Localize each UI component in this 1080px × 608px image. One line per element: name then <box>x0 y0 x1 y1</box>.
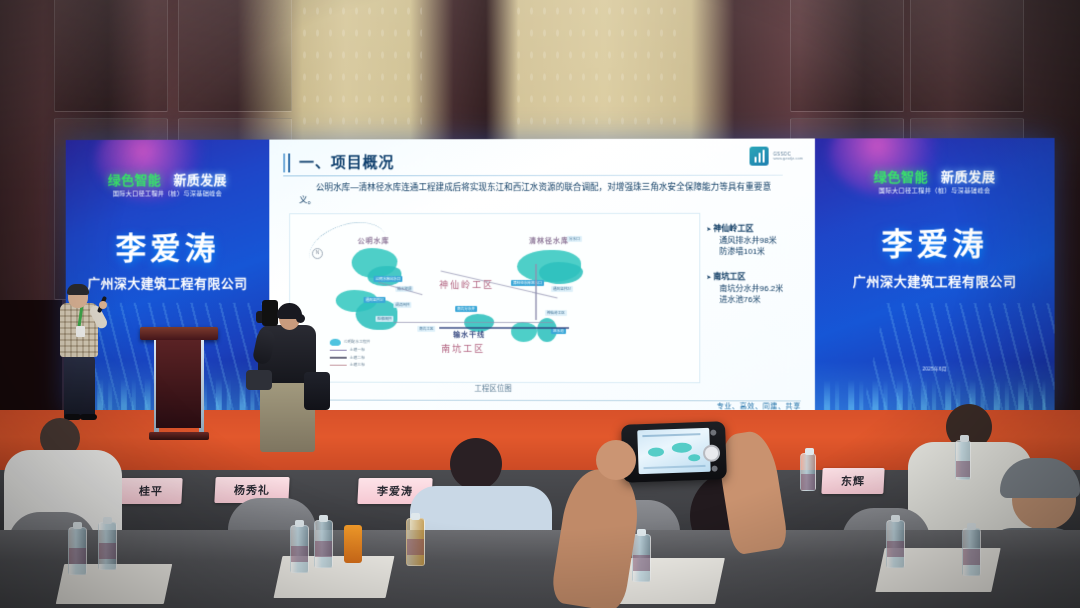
camera-mode-dot[interactable] <box>712 465 718 471</box>
thumb <box>596 440 636 480</box>
company-logo: GSSDC www.gzsdjz.com <box>750 147 803 166</box>
banner-organization: 广州深大建筑工程有限公司 <box>815 271 1055 290</box>
legend-item-label: 土建二标 <box>350 355 365 360</box>
cameraman-hair-bun <box>296 314 305 323</box>
map-label-channel: 输水干线 <box>453 330 485 340</box>
water-bottle <box>98 522 117 570</box>
annotation-group: 南坑工区 南坑分水井96.2米 进水池76米 <box>706 271 807 306</box>
map-site-tag: 通风竖井2# <box>551 286 573 292</box>
legend-item: 土建一标 <box>330 348 370 353</box>
banner-organization: 广州深大建筑工程有限公司 <box>66 273 270 292</box>
title-divider <box>283 175 783 177</box>
banner-right: 绿色智能 新质发展 国际大口径工程井（桩）与深基础峰会 李爱涛 广州深大建筑工程… <box>815 138 1055 414</box>
map-site-tag: 南坑分水井 <box>455 306 477 312</box>
camera-bag <box>304 372 330 410</box>
water-bottle <box>314 520 333 568</box>
shutter-button[interactable] <box>703 444 721 462</box>
map-water-body <box>356 300 398 330</box>
map-label-reservoir-west: 公明水库 <box>358 236 390 246</box>
annotation-line: 进水池76米 <box>706 294 807 306</box>
banner-slogan: 绿色智能 新质发展 <box>815 166 1055 185</box>
project-location-map: N 公明水库 公明水库出水口 通风竖井1# 检修闸井 输水隧洞 调流阀井 清林径… <box>289 213 700 383</box>
nameplate: 东辉 <box>821 468 884 494</box>
map-site-tag: 南坑工区 <box>417 326 435 332</box>
water-bottle <box>632 534 651 582</box>
speaker-shoe <box>80 414 97 420</box>
belt-pouch <box>246 370 272 390</box>
legend-title-row: 公明配水工程井 <box>330 338 370 345</box>
podium-base <box>149 432 209 440</box>
smartphone[interactable] <box>621 421 727 483</box>
map-legend: 公明配水工程井 土建一标 土建二标 土建三标 <box>330 336 370 368</box>
legend-item-label: 土建一标 <box>350 348 365 353</box>
map-site-tag: 清林径水库进水口 <box>511 280 544 286</box>
banner-slogan-green: 绿色智能 <box>874 169 929 184</box>
banner-slogan-white: 新质发展 <box>941 169 996 184</box>
banner-slogan-white: 新质发展 <box>173 173 226 188</box>
speaker-hand <box>99 301 107 309</box>
map-site-tag: 调流阀井 <box>393 302 411 308</box>
podium-panel <box>156 340 201 428</box>
banner-slogan-green: 绿色智能 <box>108 173 161 188</box>
map-site-tag: 通风竖井1# <box>364 297 386 303</box>
banner-speaker-name: 李爱涛 <box>815 219 1055 264</box>
annotation-line: 通风排水井98米 <box>706 235 807 247</box>
annotation-group: 神仙岭工区 通风排水井98米 防渗墙101米 <box>706 223 807 258</box>
map-water-body <box>511 322 537 342</box>
water-bottle <box>886 520 905 568</box>
legend-item: 土建二标 <box>330 355 370 360</box>
podium-top <box>140 327 218 340</box>
logo-url: www.gzsdjz.com <box>773 156 803 161</box>
legend-item: 土建三标 <box>330 363 370 368</box>
slide-annotations: 神仙岭工区 通风排水井98米 防渗墙101米 南坑工区 南坑分水井96.2米 进… <box>706 223 807 319</box>
slide-title: 一、项目概况 <box>299 151 394 172</box>
legend-title: 公明配水工程井 <box>344 339 370 344</box>
map-zone-label-shenxianling: 神仙岭工区 <box>439 278 494 291</box>
camera-mode-dot[interactable] <box>710 430 716 436</box>
annotation-line: 南坑分水井96.2米 <box>706 283 807 295</box>
water-bottle <box>800 453 816 491</box>
phone-screen[interactable] <box>637 428 710 474</box>
beverage-can <box>344 525 362 563</box>
banner-slogan: 绿色智能 新质发展 <box>66 169 270 188</box>
nameplate: 桂平 <box>119 478 182 504</box>
water-icon <box>330 338 341 345</box>
bar-chart-icon <box>750 147 769 166</box>
banner-date: 2025年6月 <box>815 365 1055 372</box>
speaker-legs <box>64 355 95 417</box>
map-water-body <box>539 262 583 284</box>
tea-bottle <box>406 518 425 566</box>
banner-subtitle: 国际大口径工程井（桩）与深基础峰会 <box>815 185 1055 194</box>
audience-head <box>450 438 502 490</box>
map-site-tag: 神仙岭工区 <box>545 310 567 316</box>
title-accent-bars <box>283 153 292 172</box>
water-bottle <box>290 525 309 573</box>
water-bottle <box>955 440 971 480</box>
podium <box>140 327 218 444</box>
video-camera-icon <box>262 300 278 326</box>
slide-body-text: 公明水库—清林径水库连通工程建成后将实现东江和西江水资源的联合调配，对增强珠三角… <box>299 181 785 208</box>
water-bottle <box>962 528 981 576</box>
map-site-tag: 分水口 <box>567 236 582 242</box>
annotation-line: 防渗墙101米 <box>706 246 807 258</box>
conference-photo: 绿色智能 新质发展 国际大口径工程井（桩）与深基础峰会 李爱涛 广州深大建筑工程… <box>0 0 1080 608</box>
annotation-heading: 神仙岭工区 <box>706 223 807 235</box>
banner-speaker-name: 李爱涛 <box>66 223 270 268</box>
map-caption: 工程区位图 <box>289 383 698 395</box>
annotation-heading: 南坑工区 <box>706 271 807 283</box>
map-site-tag: 进水池 <box>551 328 566 334</box>
map-site-tag: 检修闸井 <box>376 316 394 322</box>
map-label-reservoir-east: 清林径水库 <box>529 236 569 246</box>
legend-item-label: 土建三标 <box>350 363 365 368</box>
banner-subtitle: 国际大口径工程井（桩）与深基础峰会 <box>66 188 270 197</box>
map-zone-label-nankeng: 南坑工区 <box>441 342 485 355</box>
speaker-hair <box>67 284 89 295</box>
speaker-badge <box>76 326 85 337</box>
powerpoint-slide: 一、项目概况 GSSDC www.gzsdjz.com 公明水库—清林径水库连通… <box>269 138 815 413</box>
water-bottle <box>68 527 87 575</box>
